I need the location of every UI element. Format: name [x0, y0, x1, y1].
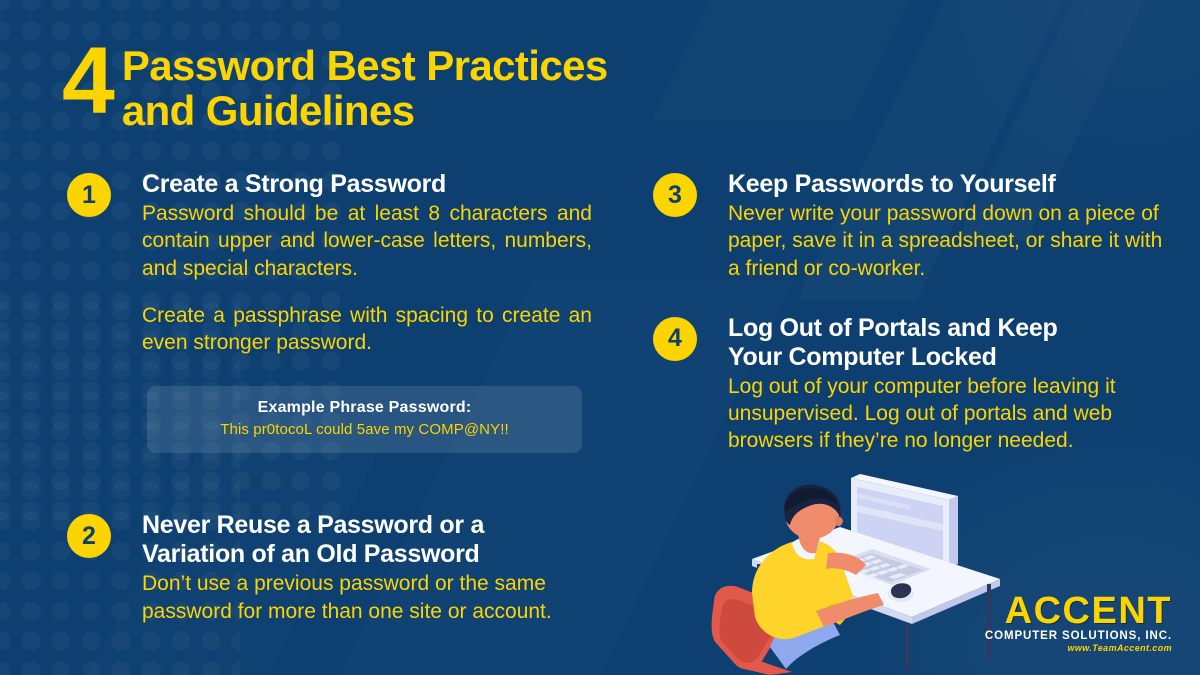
page-title-line-1: Password Best Practices — [122, 44, 608, 89]
tip-title-2-line-1: Never Reuse a Password or a — [142, 511, 592, 540]
tip-extra-paragraph-1: Create a passphrase with spacing to crea… — [142, 302, 592, 357]
tip-title-1: Create a Strong Password — [142, 170, 592, 199]
tip-number-badge-1: 1 — [67, 173, 111, 217]
accent-logo: ACCENT COMPUTER SOLUTIONS, INC. www.Team… — [985, 593, 1172, 653]
tip-title-4: Log Out of Portals and Keep Your Compute… — [728, 314, 1168, 372]
tip-title-3: Keep Passwords to Yourself — [728, 170, 1168, 199]
example-phrase-password-box: Example Phrase Password: This pr0tocoL c… — [147, 386, 582, 453]
logo-tagline: COMPUTER SOLUTIONS, INC. — [985, 630, 1172, 642]
header-count-number: 4 — [62, 36, 112, 126]
tip-title-2-line-2: Variation of an Old Password — [142, 540, 592, 569]
tip-item-3: 3 Keep Passwords to Yourself Never write… — [648, 170, 1168, 282]
tip-title-4-line-2: Your Computer Locked — [728, 343, 1168, 372]
example-box-value: This pr0tocoL could 5ave my COMP@NY!! — [157, 421, 572, 438]
tip-number-badge-4: 4 — [653, 317, 697, 361]
tip-body-3: Never write your password down on a piec… — [728, 200, 1168, 282]
person-at-desk-illustration — [700, 465, 1020, 675]
left-column: 1 Create a Strong Password Password shou… — [62, 170, 592, 633]
example-box-label: Example Phrase Password: — [157, 399, 572, 417]
tip-title-2: Never Reuse a Password or a Variation of… — [142, 511, 592, 569]
tip-number-badge-3: 3 — [653, 173, 697, 217]
tip-item-4: 4 Log Out of Portals and Keep Your Compu… — [648, 314, 1168, 455]
infographic-header: 4 Password Best Practices and Guidelines — [62, 36, 608, 133]
tip-body-2: Don’t use a previous password or the sam… — [142, 570, 592, 625]
right-column: 3 Keep Passwords to Yourself Never write… — [648, 170, 1168, 463]
tip-title-4-line-1: Log Out of Portals and Keep — [728, 314, 1168, 343]
tip-body-4: Log out of your computer before leaving … — [728, 373, 1168, 455]
logo-company-name: ACCENT — [985, 593, 1172, 629]
logo-website-url: www.TeamAccent.com — [985, 643, 1172, 653]
tip-number-badge-2: 2 — [67, 514, 111, 558]
page-title-line-2: and Guidelines — [122, 89, 608, 134]
tip-item-2: 2 Never Reuse a Password or a Variation … — [62, 511, 592, 625]
tip-body-1: Password should be at least 8 characters… — [142, 200, 592, 282]
tip-item-1: 1 Create a Strong Password Password shou… — [62, 170, 592, 453]
page-title: Password Best Practices and Guidelines — [122, 36, 608, 133]
